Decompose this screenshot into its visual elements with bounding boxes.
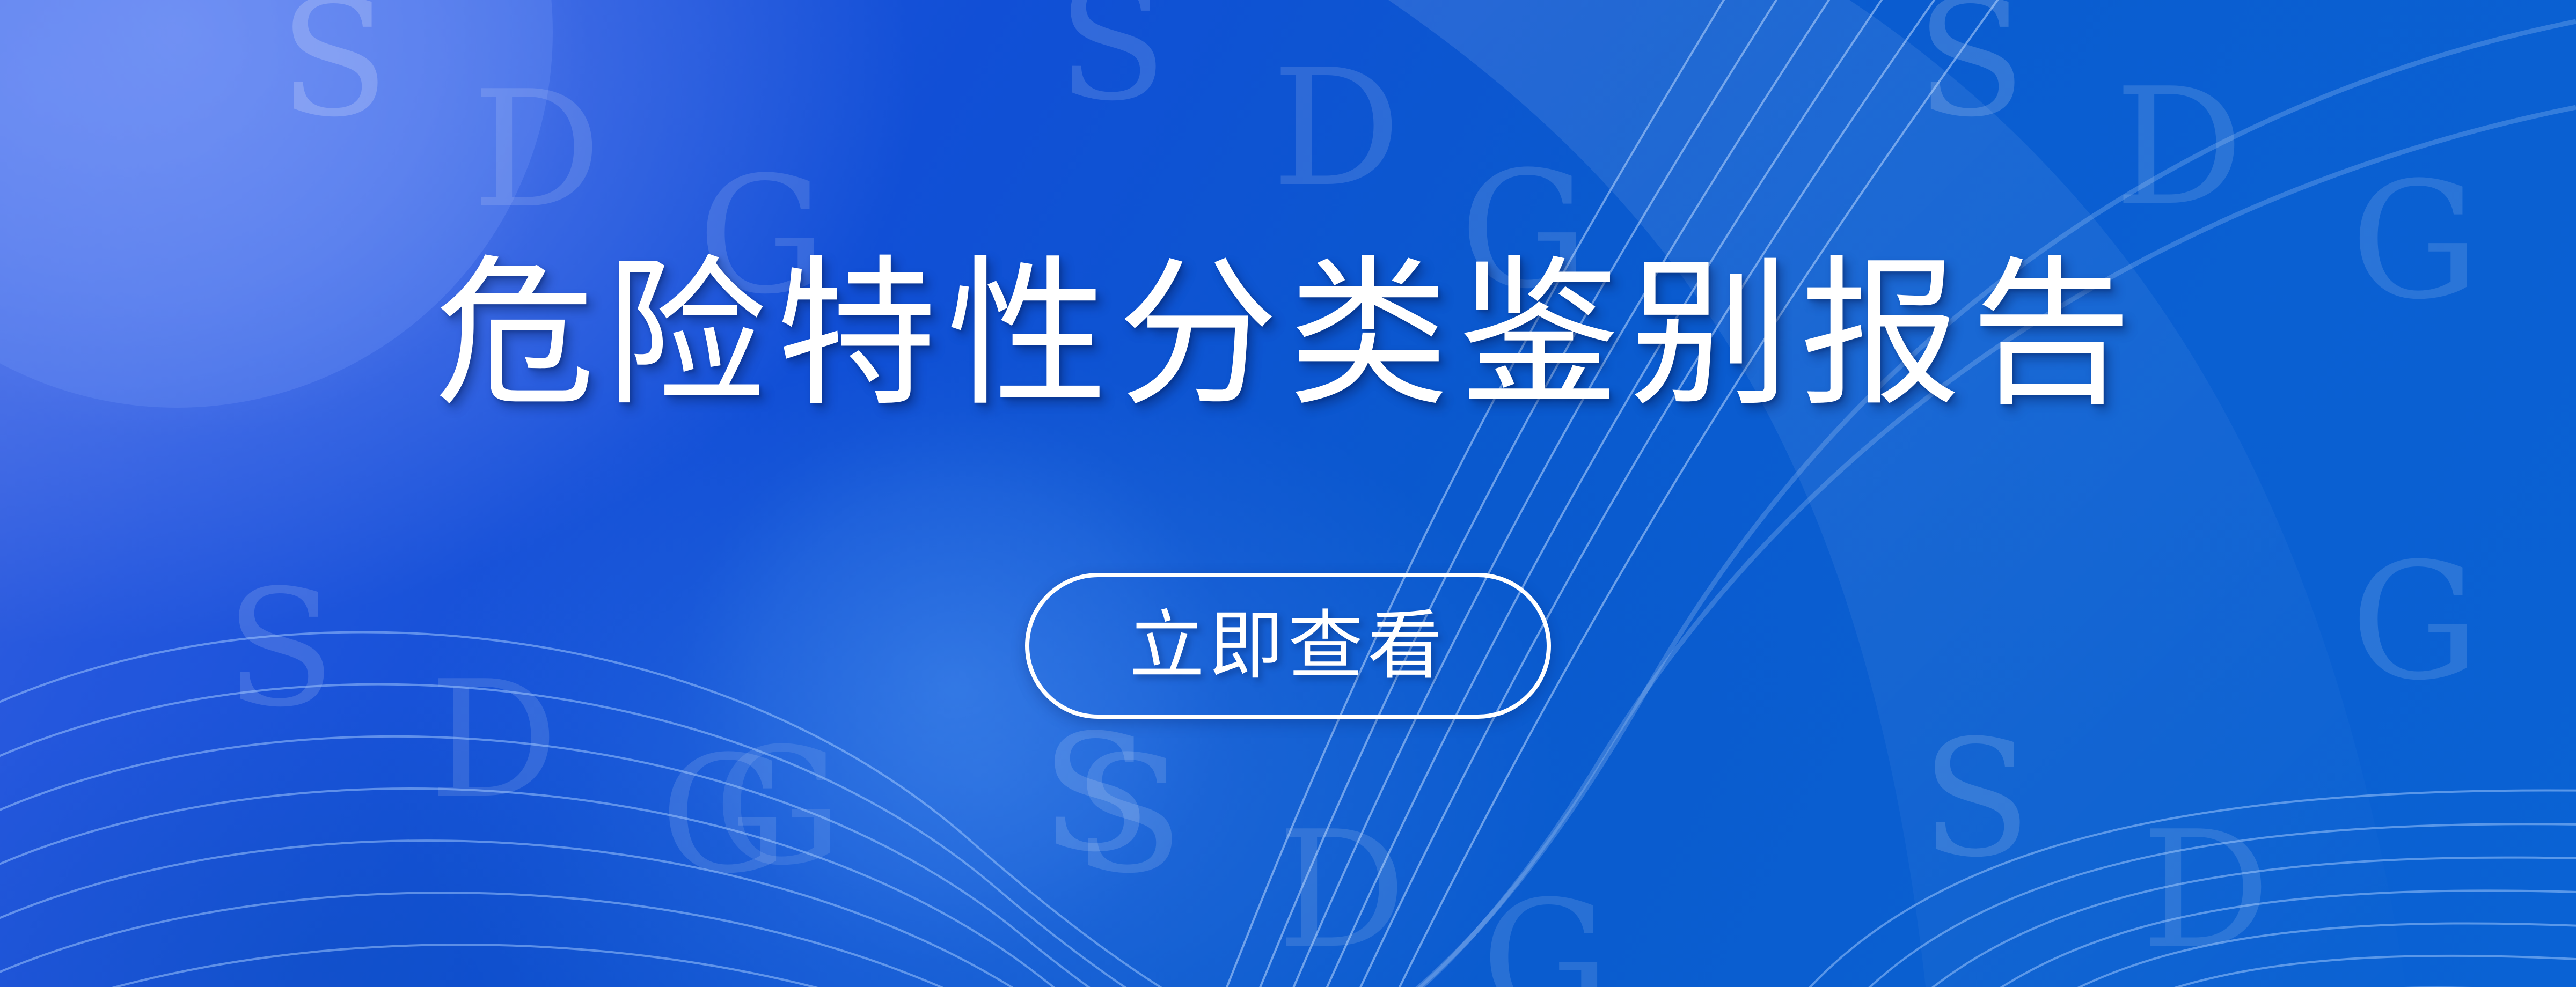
watermark-letter-d: D <box>2141 810 2271 971</box>
watermark-letter-s: S <box>279 0 390 139</box>
bottom-right-arc-group <box>1760 790 2576 987</box>
watermark-letter-g: G <box>1481 880 1610 987</box>
wide-sweep-group <box>1202 21 2576 987</box>
cta-wrap: 立即查看 <box>0 573 2576 719</box>
watermark-letter-s: S <box>1921 719 2032 880</box>
view-now-button[interactable]: 立即查看 <box>1025 573 1551 719</box>
sheen-band <box>1288 0 2415 987</box>
diagonal-streak-group <box>1202 0 2029 987</box>
watermark-letter-g: G <box>660 735 789 896</box>
hazard-report-banner: SDGSDGSDGSDGSGSDGSDG <box>0 0 2576 987</box>
watermark-letter-d: D <box>472 70 602 231</box>
banner-title-wrap: 危险特性分类鉴别报告 <box>0 244 2576 424</box>
watermark-letter-g: G <box>714 727 843 888</box>
background-shapes-layer <box>0 0 2576 987</box>
watermark-letter-s: S <box>1073 735 1184 896</box>
view-now-button-label: 立即查看 <box>1129 608 1447 683</box>
page-title: 危险特性分类鉴别报告 <box>435 244 2141 424</box>
line-art-layer <box>0 0 2576 987</box>
watermark-letter-d: D <box>2114 67 2244 228</box>
watermark-letter-s: S <box>1041 713 1152 874</box>
watermark-letter-d: D <box>1272 48 1401 209</box>
bottom-left-shade <box>0 676 816 987</box>
watermark-letter-s: S <box>1916 0 2026 139</box>
watermark-letters-layer: SDGSDGSDGSDGSGSDGSDG <box>0 0 2576 987</box>
watermark-letter-d: D <box>1277 810 1407 971</box>
watermark-letter-s: S <box>1057 0 1168 123</box>
